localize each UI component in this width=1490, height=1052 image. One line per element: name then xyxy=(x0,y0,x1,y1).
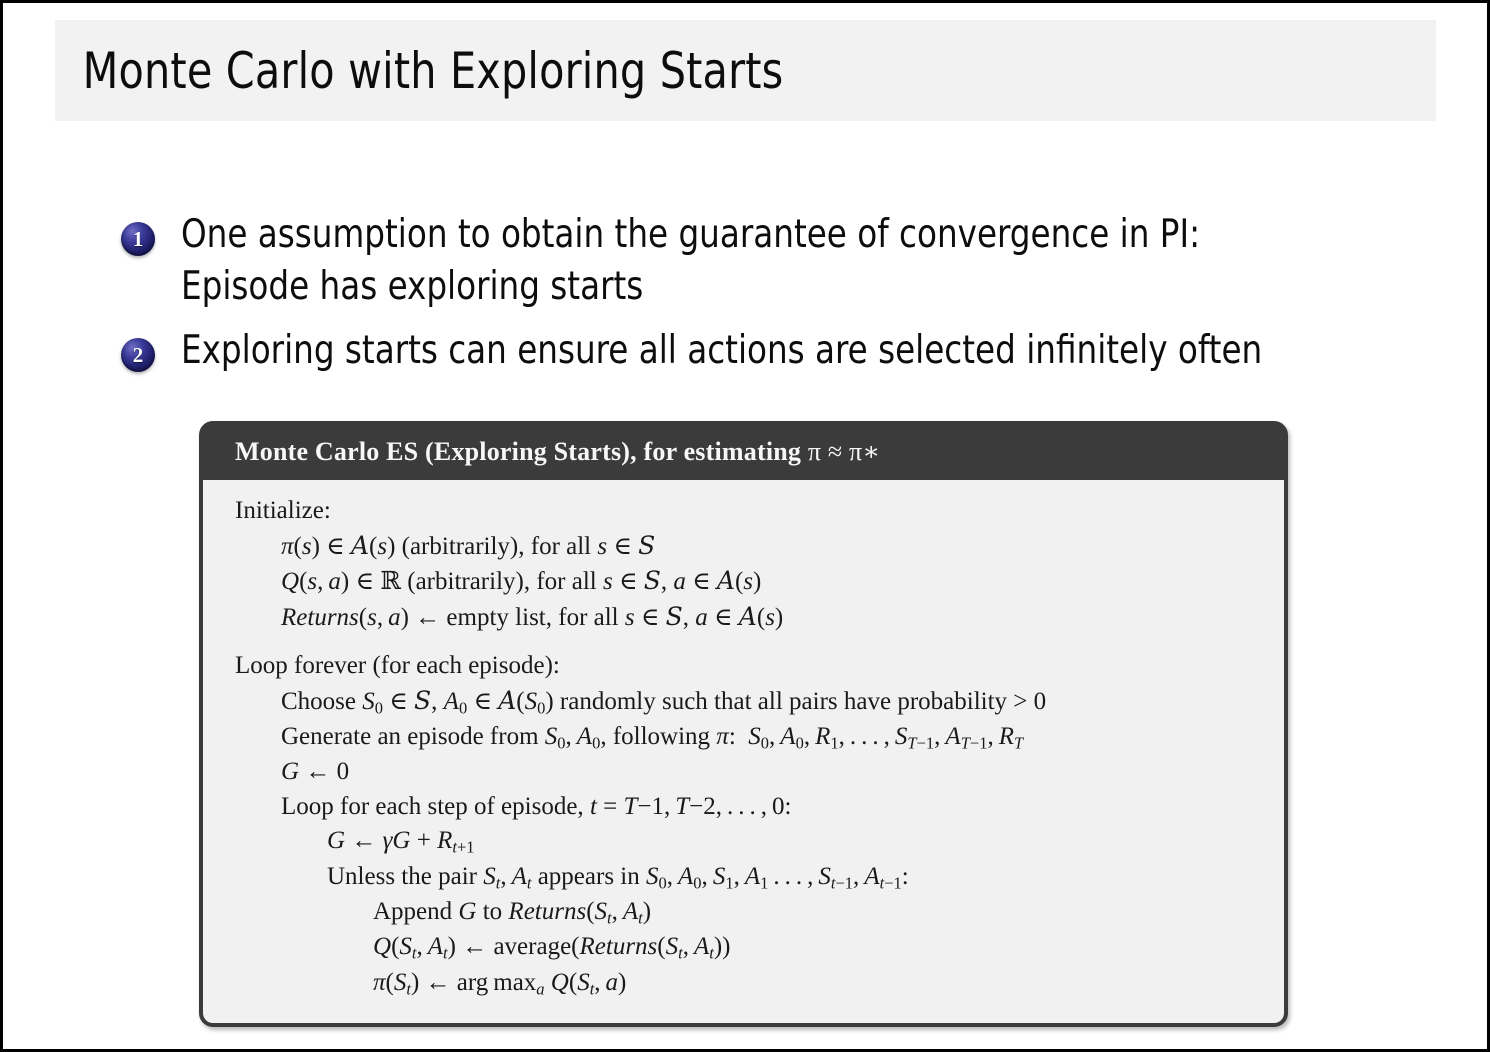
algo-line-pi-update: π(St) ← arg maxa Q(St, a) xyxy=(235,966,1264,1001)
algorithm-title-math: π ≈ π∗ xyxy=(808,437,880,466)
algo-line-initialize: Initialize: xyxy=(235,494,1264,529)
algo-line-append: Append G to Returns(St, At) xyxy=(235,895,1264,930)
algo-line-generate: Generate an episode from S0, A0, followi… xyxy=(235,720,1264,755)
algo-line-q-update: Q(St, At) ← average(Returns(St, At)) xyxy=(235,930,1264,965)
algo-line-loop-forever: Loop forever (for each episode): xyxy=(235,649,1264,684)
bullet-text: One assumption to obtain the guarantee o… xyxy=(181,209,1334,313)
algo-line-init-q: Q(s, a) ∈ ℝ (arbitrarily), for all s ∈ S… xyxy=(235,564,1264,600)
algo-line-g-update: G ← γG + Rt+1 xyxy=(235,824,1264,859)
algo-line-unless: Unless the pair St, At appears in S0, A0… xyxy=(235,860,1264,895)
list-item: 1 One assumption to obtain the guarantee… xyxy=(121,209,1421,313)
algorithm-box: Monte Carlo ES (Exploring Starts), for e… xyxy=(199,421,1288,1027)
algo-line-choose: Choose S0 ∈ S, A0 ∈ A(S0) randomly such … xyxy=(235,684,1264,720)
algo-line-g-init: G ← 0 xyxy=(235,755,1264,790)
algorithm-title-text: Monte Carlo ES (Exploring Starts), for e… xyxy=(235,437,801,466)
bullet-text: Exploring starts can ensure all actions … xyxy=(181,325,1334,377)
slide-title-bar: Monte Carlo with Exploring Starts xyxy=(55,20,1436,121)
bullet-number-icon: 2 xyxy=(121,338,155,372)
slide-canvas: Monte Carlo with Exploring Starts 1 One … xyxy=(0,0,1490,1052)
algorithm-body: Initialize: π(s) ∈ A(s) (arbitrarily), f… xyxy=(203,480,1284,1023)
bullet-number-icon: 1 xyxy=(121,222,155,256)
list-item: 2 Exploring starts can ensure all action… xyxy=(121,325,1421,377)
page-title: Monte Carlo with Exploring Starts xyxy=(55,42,783,100)
algo-spacer xyxy=(235,635,1264,649)
algo-line-loop-step: Loop for each step of episode, t = T−1, … xyxy=(235,790,1264,825)
bullet-list: 1 One assumption to obtain the guarantee… xyxy=(121,209,1421,389)
algo-line-init-policy: π(s) ∈ A(s) (arbitrarily), for all s ∈ S xyxy=(235,529,1264,565)
algorithm-title: Monte Carlo ES (Exploring Starts), for e… xyxy=(203,425,1284,480)
algo-line-init-returns: Returns(s, a) ← empty list, for all s ∈ … xyxy=(235,600,1264,636)
